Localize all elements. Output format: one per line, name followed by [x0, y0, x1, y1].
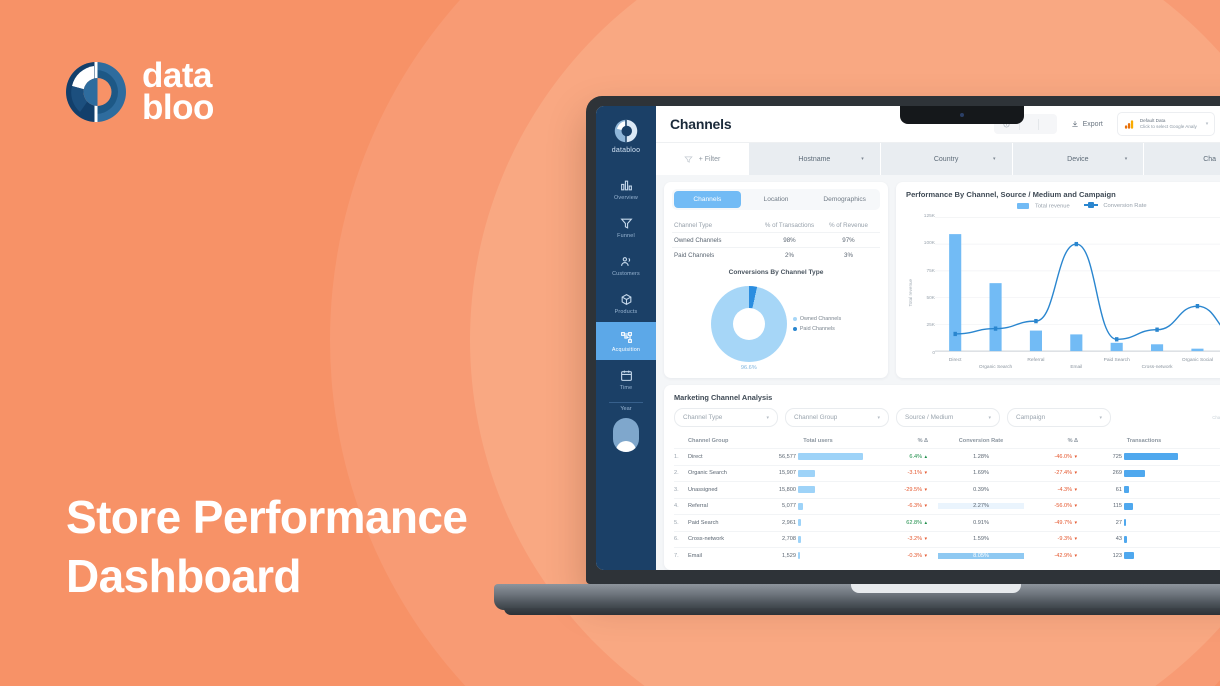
- app-sidebar: databloo Overview Funnel: [596, 106, 656, 570]
- y-tick: 125K: [924, 214, 935, 219]
- sidebar-divider: [609, 402, 643, 403]
- cell-tx-delta: -26.5% ▼: [1200, 487, 1220, 493]
- filter-icon: [684, 155, 693, 164]
- sidebar-avatar[interactable]: [613, 418, 639, 452]
- sidebar-item-customers[interactable]: Customers: [596, 246, 656, 284]
- legend-swatch-bar: [1017, 203, 1029, 209]
- donut-legend: Owned Channels Paid Channels: [793, 316, 841, 332]
- top-row: Channels Location Demographics Channel T…: [664, 182, 1220, 378]
- cell-pct-transactions: 2%: [760, 252, 819, 259]
- select-source-medium[interactable]: Source / Medium ▾: [896, 408, 1000, 427]
- app-body: Channels Location Demographics Channel T…: [656, 175, 1220, 570]
- chevron-down-icon: ▾: [988, 415, 991, 421]
- table-row[interactable]: 1.Direct56,5776.4% ▲1.28%-46.0% ▼725-42.…: [674, 448, 1220, 465]
- cell-conversion-rate: 8.05%: [938, 553, 1024, 559]
- donut-area: 96.6% Owned Channels: [672, 276, 880, 371]
- card-tabs: Channels Location Demographics: [672, 189, 880, 210]
- sidebar-item-acquisition[interactable]: Acquisition: [596, 322, 656, 360]
- cell-conv-delta: -27.4% ▼: [1024, 470, 1088, 476]
- cell-tx-delta: -12.2% ▼: [1200, 536, 1220, 542]
- cell-tx-delta: -18.2% ▼: [1200, 520, 1220, 526]
- sidebar-item-products[interactable]: Products: [596, 284, 656, 322]
- topbar-seg-2[interactable]: [1039, 119, 1057, 130]
- export-button[interactable]: Export: [1063, 114, 1111, 134]
- legend-item-owned: Owned Channels: [793, 316, 841, 322]
- cell-total-users: 15,907: [762, 470, 874, 477]
- app-main: Channels Export: [656, 106, 1220, 570]
- chevron-down-icon: ▾: [861, 156, 864, 162]
- analysis-table: Channel Group Total users % Δ Conversion…: [674, 434, 1220, 564]
- chart-title: Performance By Channel, Source / Medium …: [906, 190, 1220, 199]
- cell-transactions: 269: [1088, 470, 1200, 477]
- cell-index: 3.: [674, 487, 688, 493]
- cell-channel-group: Email: [688, 553, 762, 559]
- chevron-down-icon: ▾: [993, 156, 996, 162]
- cell-conversion-rate: 1.69%: [938, 470, 1024, 476]
- analysis-filter-row: Channel Type ▾ Channel Group ▾ Source / …: [674, 408, 1220, 427]
- table-row[interactable]: 6.Cross-network2,708-3.2% ▼1.59%-9.3% ▼4…: [674, 531, 1220, 548]
- table-row[interactable]: 3.Unassigned15,800-29.5% ▼0.39%-4.3% ▼61…: [674, 481, 1220, 498]
- cell-transactions: 725: [1088, 453, 1200, 460]
- chevron-down-icon: ▾: [1099, 415, 1102, 421]
- channel-type-card: Channels Location Demographics Channel T…: [664, 182, 888, 378]
- table-header-row: Channel Type % of Transactions % of Reve…: [672, 218, 880, 232]
- col-channel-group[interactable]: Channel Group: [688, 438, 762, 444]
- cell-users-delta: -29.5% ▼: [874, 487, 938, 493]
- cell-users-delta: 62.8% ▲: [874, 520, 938, 526]
- cell-conv-delta: -49.7% ▼: [1024, 520, 1088, 526]
- brand-logo: data bloo: [64, 60, 214, 124]
- chart-y-ticks: 125K 100K 75K 50K 25K 0: [915, 212, 935, 372]
- select-campaign[interactable]: Campaign ▾: [1007, 408, 1111, 427]
- laptop-foot: [504, 608, 1220, 615]
- x-tick-label: Paid Search: [1104, 358, 1130, 363]
- camera-icon: [960, 113, 964, 117]
- donut-chart: 96.6%: [711, 286, 787, 362]
- chart-y-axis-label: Total revenue: [906, 212, 915, 372]
- donut-value: 96.6%: [711, 365, 787, 371]
- col-conv-delta: % Δ: [1024, 438, 1088, 444]
- chart-x-labels: DirectOrganic SearchReferralEmailPaid Se…: [935, 356, 1220, 372]
- sidebar-label-funnel: Funnel: [617, 233, 635, 239]
- cell-conv-delta: -46.0% ▼: [1024, 454, 1088, 460]
- cell-conversion-rate: 0.39%: [938, 487, 1024, 493]
- cell-transactions: 61: [1088, 486, 1200, 493]
- x-tick-label: Organic Search: [979, 365, 1012, 370]
- cell-channel-group: Unassigned: [688, 487, 762, 493]
- cell-conv-delta: -4.3% ▼: [1024, 487, 1088, 493]
- legend-conversion-rate: Conversion Rate: [1084, 203, 1147, 210]
- box-icon: [620, 293, 633, 306]
- filter-country-label: Country: [934, 156, 959, 163]
- add-filter-label: + Filter: [699, 156, 721, 163]
- chart-plot-area: DirectOrganic SearchReferralEmailPaid Se…: [935, 212, 1220, 372]
- cell-channel-group: Paid Search: [688, 520, 762, 526]
- legend-swatch: [793, 327, 797, 331]
- laptop-screen: databloo Overview Funnel: [596, 106, 1220, 570]
- col-pct-transactions: % of Transactions: [760, 222, 819, 229]
- select-label: Source / Medium: [905, 414, 953, 421]
- marketing-channel-analysis-card: Marketing Channel Analysis Channel Type …: [664, 385, 1220, 570]
- cell-tx-delta: -28.3% ▼: [1200, 470, 1220, 476]
- legend-label: Total revenue: [1035, 204, 1070, 210]
- cell-index: 5.: [674, 520, 688, 526]
- google-analytics-icon: [1124, 119, 1135, 130]
- cell-index: 7.: [674, 553, 688, 559]
- cell-transactions: 27: [1088, 519, 1200, 526]
- performance-chart-card: Performance By Channel, Source / Medium …: [896, 182, 1220, 378]
- donut-title: Conversions By Channel Type: [729, 269, 824, 276]
- filter-device-label: Device: [1067, 156, 1088, 163]
- y-tick: 25K: [926, 323, 935, 328]
- data-source-hint: Click to select Google Analy: [1140, 124, 1197, 130]
- select-channel-group[interactable]: Channel Group ▾: [785, 408, 889, 427]
- app-title: Channels: [670, 116, 731, 132]
- export-label: Export: [1083, 121, 1103, 128]
- cell-users-delta: -0.3% ▼: [874, 553, 938, 559]
- cell-index: 2.: [674, 470, 688, 476]
- analysis-note: Channel Type, Channel: [1212, 415, 1220, 420]
- filter-country[interactable]: Country ▾: [881, 143, 1013, 175]
- poster-canvas: data bloo Store Performance Dashboard: [0, 0, 1220, 686]
- cell-tx-delta: -58.8% ▼: [1200, 503, 1220, 509]
- cell-channel-group: Organic Search: [688, 470, 762, 476]
- cell-total-users: 5,077: [762, 503, 874, 510]
- tab-channels[interactable]: Channels: [674, 191, 741, 208]
- chevron-down-icon: ▾: [877, 415, 880, 421]
- filter-channel-label: Cha: [1203, 156, 1216, 163]
- brand-line-2: bloo: [142, 92, 214, 124]
- table-row[interactable]: 7.Email1,529-0.3% ▼8.05%-42.9% ▼123-43.1…: [674, 547, 1220, 564]
- table-row[interactable]: 4.Referral5,077-6.3% ▼2.27%-56.0% ▼115-5…: [674, 498, 1220, 515]
- legend-label: Conversion Rate: [1103, 203, 1146, 209]
- laptop-lid: databloo Overview Funnel: [586, 96, 1220, 584]
- laptop-mockup: databloo Overview Funnel: [586, 96, 1220, 596]
- cell-conv-delta: -56.0% ▼: [1024, 503, 1088, 509]
- cell-transactions: 43: [1088, 536, 1200, 543]
- legend-swatch: [793, 317, 797, 321]
- col-channel-type: Channel Type: [674, 222, 760, 229]
- table-row: Owned Channels 98% 97%: [672, 232, 880, 247]
- cell-users-delta: -6.3% ▼: [874, 503, 938, 509]
- sidebar-label-time: Time: [620, 385, 633, 391]
- cell-pct-transactions: 98%: [760, 237, 819, 244]
- funnel-icon: [620, 217, 633, 230]
- x-tick-label: Cross-network: [1142, 365, 1173, 370]
- cell-channel-group: Cross-network: [688, 536, 762, 542]
- col-users-delta: % Δ: [874, 438, 938, 444]
- sidebar-logo: databloo: [608, 114, 644, 158]
- chart-plot-wrapper: Total revenue 125K 100K 75K 50K 25K 0: [906, 212, 1220, 372]
- analysis-rows: 1.Direct56,5776.4% ▲1.28%-46.0% ▼725-42.…: [674, 448, 1220, 564]
- donut-chart-section: Conversions By Channel Type 96.6%: [672, 269, 880, 371]
- cell-users-delta: -3.2% ▼: [874, 536, 938, 542]
- webcam-notch: [900, 106, 1024, 124]
- select-label: Channel Type: [683, 414, 722, 421]
- select-channel-type[interactable]: Channel Type ▾: [674, 408, 778, 427]
- table-header-row: Channel Group Total users % Δ Conversion…: [674, 434, 1220, 448]
- legend-label: Paid Channels: [800, 326, 835, 332]
- cell-channel-group: Referral: [688, 503, 762, 509]
- bar-chart-icon: [620, 179, 633, 192]
- legend-swatch-line: [1084, 204, 1098, 206]
- tab-location[interactable]: Location: [743, 191, 810, 208]
- cell-index: 4.: [674, 503, 688, 509]
- cell-index: 1.: [674, 454, 688, 460]
- download-icon: [1071, 120, 1079, 128]
- select-label: Channel Group: [794, 414, 837, 421]
- chevron-down-icon: ▾: [1125, 156, 1128, 162]
- cell-users-delta: -3.1% ▼: [874, 470, 938, 476]
- sidebar-item-funnel[interactable]: Funnel: [596, 208, 656, 246]
- filter-hostname[interactable]: Hostname ▾: [749, 143, 881, 175]
- filter-device[interactable]: Device ▾: [1013, 143, 1145, 175]
- cell-total-users: 2,708: [762, 536, 874, 543]
- sidebar-label-overview: Overview: [614, 195, 638, 201]
- cell-pct-revenue: 97%: [819, 237, 878, 244]
- sidebar-logo-label: databloo: [612, 147, 640, 154]
- laptop-base: [494, 584, 1220, 610]
- col-total-users[interactable]: Total users: [762, 438, 874, 444]
- y-tick: 75K: [926, 269, 935, 274]
- marketing-analysis-title: Marketing Channel Analysis: [674, 393, 1220, 402]
- cell-total-users: 1,529: [762, 552, 874, 559]
- sidebar-label-acquisition: Acquisition: [612, 347, 640, 353]
- filter-hostname-label: Hostname: [798, 156, 830, 163]
- cell-users-delta: 6.4% ▲: [874, 454, 938, 460]
- y-tick: 50K: [926, 296, 935, 301]
- sidebar-item-time[interactable]: Time: [596, 360, 656, 398]
- cell-conv-delta: -9.3% ▼: [1024, 536, 1088, 542]
- x-tick-label: Direct: [949, 358, 962, 363]
- select-label: Campaign: [1016, 414, 1045, 421]
- chevron-down-icon: ▾: [766, 415, 769, 421]
- x-tick-label: Referral: [1027, 358, 1044, 363]
- sidebar-item-overview[interactable]: Overview: [596, 170, 656, 208]
- filter-bar: + Filter Hostname ▾ Country ▾ Device ▾: [656, 142, 1220, 175]
- y-tick: 100K: [924, 241, 935, 246]
- channel-type-table: Channel Type % of Transactions % of Reve…: [672, 218, 880, 262]
- cell-conv-delta: -42.9% ▼: [1024, 553, 1088, 559]
- tab-demographics[interactable]: Demographics: [811, 191, 878, 208]
- cell-pct-revenue: 3%: [819, 252, 878, 259]
- data-source-selector[interactable]: Default Data Click to select Google Anal…: [1117, 112, 1215, 136]
- sidebar-label-customers: Customers: [612, 271, 640, 277]
- cell-tx-delta: -43.1% ▼: [1200, 553, 1220, 559]
- x-tick-label: Email: [1070, 365, 1082, 370]
- cell-transactions: 123: [1088, 552, 1200, 559]
- x-tick-label: Organic Social: [1182, 358, 1213, 363]
- cell-total-users: 2,961: [762, 519, 874, 526]
- cell-conversion-rate: 0.91%: [938, 520, 1024, 526]
- chart-svg: [935, 212, 1220, 372]
- table-row[interactable]: 5.Paid Search2,96162.8% ▲0.91%-49.7% ▼27…: [674, 514, 1220, 531]
- col-pct-revenue: % of Revenue: [819, 222, 878, 229]
- table-row[interactable]: 2.Organic Search15,907-3.1% ▼1.69%-27.4%…: [674, 465, 1220, 482]
- cell-total-users: 15,800: [762, 486, 874, 493]
- legend-item-paid: Paid Channels: [793, 326, 841, 332]
- chevron-down-icon: ▾: [1206, 121, 1209, 127]
- cell-index: 6.: [674, 536, 688, 542]
- table-row: Paid Channels 2% 3%: [672, 247, 880, 262]
- cell-total-users: 56,577: [762, 453, 874, 460]
- network-icon: [620, 331, 633, 344]
- cell-conversion-rate: 2.27%: [938, 503, 1024, 509]
- legend-label: Owned Channels: [800, 316, 841, 322]
- chart-legend: Total revenue Conversion Rate: [906, 203, 1220, 210]
- cell-conversion-rate: 1.59%: [938, 536, 1024, 542]
- users-icon: [620, 255, 633, 268]
- cell-channel-type: Paid Channels: [674, 252, 760, 259]
- sidebar-label-products: Products: [615, 309, 638, 315]
- cell-channel-type: Owned Channels: [674, 237, 760, 244]
- col-transactions[interactable]: Transactions: [1088, 438, 1200, 444]
- legend-total-revenue: Total revenue: [1017, 203, 1069, 210]
- cell-tx-delta: -42.6% ▼: [1200, 454, 1220, 460]
- filter-channel[interactable]: Cha: [1144, 143, 1220, 175]
- col-tx-delta: % Δ: [1200, 438, 1220, 444]
- sidebar-year-label[interactable]: Year: [620, 406, 631, 412]
- cell-conversion-rate: 1.28%: [938, 454, 1024, 460]
- col-conversion-rate[interactable]: Conversion Rate: [938, 438, 1024, 444]
- cell-transactions: 115: [1088, 503, 1200, 510]
- calendar-icon: [620, 369, 633, 382]
- databloo-logo-icon: [64, 60, 128, 124]
- add-filter-button[interactable]: + Filter: [656, 143, 749, 175]
- cell-channel-group: Direct: [688, 454, 762, 460]
